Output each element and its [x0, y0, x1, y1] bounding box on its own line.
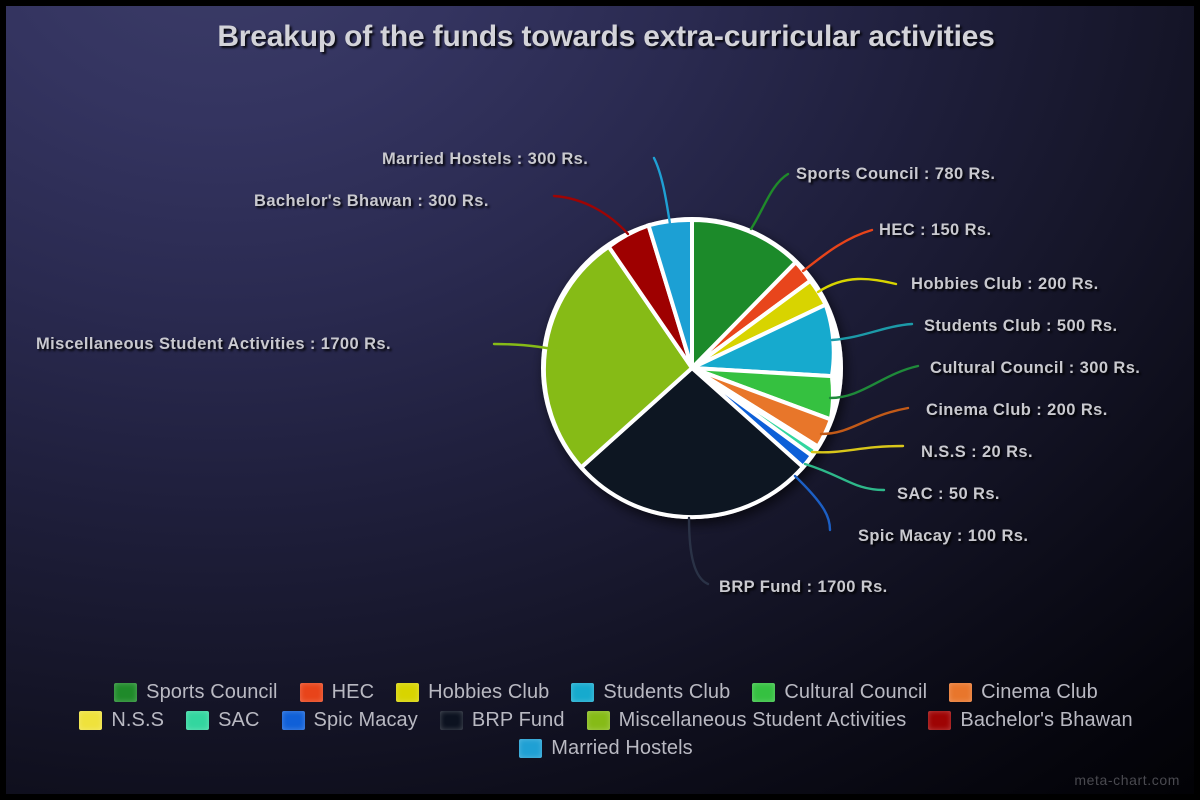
legend-swatch-icon: [282, 711, 305, 730]
legend-label: Miscellaneous Student Activities: [619, 709, 907, 732]
callout-hec: HEC : 150 Rs.: [879, 221, 992, 240]
leader-married-hostels: [654, 158, 670, 224]
legend-item-cultural-council[interactable]: Cultural Council: [752, 678, 927, 706]
legend-label: Bachelor's Bhawan: [960, 709, 1132, 732]
leader-cinema-club: [821, 408, 908, 434]
legend-item-nss[interactable]: N.S.S: [79, 706, 164, 734]
callout-cultural-council: Cultural Council : 300 Rs.: [930, 359, 1140, 378]
legend-swatch-icon: [928, 711, 951, 730]
legend-item-sac[interactable]: SAC: [186, 706, 259, 734]
legend-label: Married Hostels: [551, 737, 693, 760]
callout-married-hostels: Married Hostels : 300 Rs.: [382, 150, 588, 169]
legend-swatch-icon: [587, 711, 610, 730]
slice-sac[interactable]: [692, 368, 816, 456]
legend-item-sports-council[interactable]: Sports Council: [114, 678, 277, 706]
callout-students-club: Students Club : 500 Rs.: [924, 317, 1117, 336]
callout-sac: SAC : 50 Rs.: [897, 485, 1000, 504]
callout-cinema-club: Cinema Club : 200 Rs.: [926, 401, 1108, 420]
legend-swatch-icon: [752, 683, 775, 702]
legend-swatch-icon: [519, 739, 542, 758]
legend-swatch-icon: [79, 711, 102, 730]
pie-chart-figure: Breakup of the funds towards extra-curri…: [0, 0, 1200, 800]
legend: Sports Council HEC Hobbies Club Students…: [6, 678, 1200, 762]
leader-brp-fund: [689, 518, 708, 584]
slice-cultural-council[interactable]: [692, 368, 833, 419]
legend-item-brp-fund[interactable]: BRP Fund: [440, 706, 565, 734]
legend-item-cinema-club[interactable]: Cinema Club: [949, 678, 1098, 706]
callout-sports-council: Sports Council : 780 Rs.: [796, 165, 995, 184]
slice-spic-macay[interactable]: [692, 368, 812, 467]
leader-sac: [805, 464, 884, 490]
legend-swatch-icon: [396, 683, 419, 702]
legend-label: Hobbies Club: [428, 681, 549, 704]
slice-students-club[interactable]: [692, 305, 834, 377]
legend-swatch-icon: [300, 683, 323, 702]
legend-label: HEC: [332, 681, 375, 704]
legend-item-hec[interactable]: HEC: [300, 678, 375, 706]
legend-label: Students Club: [603, 681, 730, 704]
slice-sports-council[interactable]: [692, 220, 796, 368]
callout-brp-fund: BRP Fund : 1700 Rs.: [719, 578, 888, 597]
slice-hobbies-club[interactable]: [692, 281, 826, 368]
callout-nss: N.S.S : 20 Rs.: [921, 443, 1033, 462]
leader-students-club: [832, 324, 912, 340]
legend-label: N.S.S: [111, 709, 164, 732]
legend-swatch-icon: [949, 683, 972, 702]
legend-item-students-club[interactable]: Students Club: [571, 678, 730, 706]
callout-spic-macay: Spic Macay : 100 Rs.: [858, 527, 1028, 546]
slice-married-hostels[interactable]: [649, 220, 692, 368]
slice-bachelors-bhawan[interactable]: [609, 225, 692, 368]
leader-cultural-council: [830, 366, 918, 398]
legend-swatch-icon: [440, 711, 463, 730]
callout-hobbies-club: Hobbies Club : 200 Rs.: [911, 275, 1099, 294]
leader-lines: [494, 158, 918, 584]
slice-miscellaneous-student-activities[interactable]: [544, 247, 692, 468]
leader-hec: [803, 230, 872, 271]
leader-bachelors-bhawan: [554, 196, 628, 234]
legend-item-miscellaneous-student-activities[interactable]: Miscellaneous Student Activities: [587, 706, 907, 734]
slice-nss[interactable]: [692, 368, 818, 449]
callout-bachelors-bhawan: Bachelor's Bhawan : 300 Rs.: [254, 192, 489, 211]
legend-swatch-icon: [114, 683, 137, 702]
legend-label: Spic Macay: [314, 709, 418, 732]
slice-brp-fund[interactable]: [581, 368, 803, 517]
pie-rim: [541, 217, 843, 519]
legend-item-bachelors-bhawan[interactable]: Bachelor's Bhawan: [928, 706, 1132, 734]
chart-title: Breakup of the funds towards extra-curri…: [6, 20, 1200, 54]
leader-hobbies-club: [818, 279, 896, 292]
legend-label: Cinema Club: [981, 681, 1098, 704]
pie-slices: [541, 217, 843, 519]
legend-label: Cultural Council: [784, 681, 927, 704]
legend-swatch-icon: [186, 711, 209, 730]
legend-swatch-icon: [571, 683, 594, 702]
legend-item-hobbies-club[interactable]: Hobbies Club: [396, 678, 549, 706]
slice-hec[interactable]: [692, 262, 810, 368]
watermark: meta-chart.com: [1074, 772, 1180, 788]
legend-item-spic-macay[interactable]: Spic Macay: [282, 706, 418, 734]
legend-item-married-hostels[interactable]: Married Hostels: [519, 734, 693, 762]
slice-cinema-club[interactable]: [692, 368, 831, 447]
legend-label: SAC: [218, 709, 259, 732]
leader-nss: [812, 446, 903, 452]
legend-label: Sports Council: [146, 681, 277, 704]
leader-miscellaneous: [494, 344, 572, 354]
leader-sports-council: [751, 174, 788, 229]
leader-spic-macay: [795, 476, 830, 530]
legend-label: BRP Fund: [472, 709, 565, 732]
callout-miscellaneous-student-activities: Miscellaneous Student Activities : 1700 …: [36, 335, 391, 354]
